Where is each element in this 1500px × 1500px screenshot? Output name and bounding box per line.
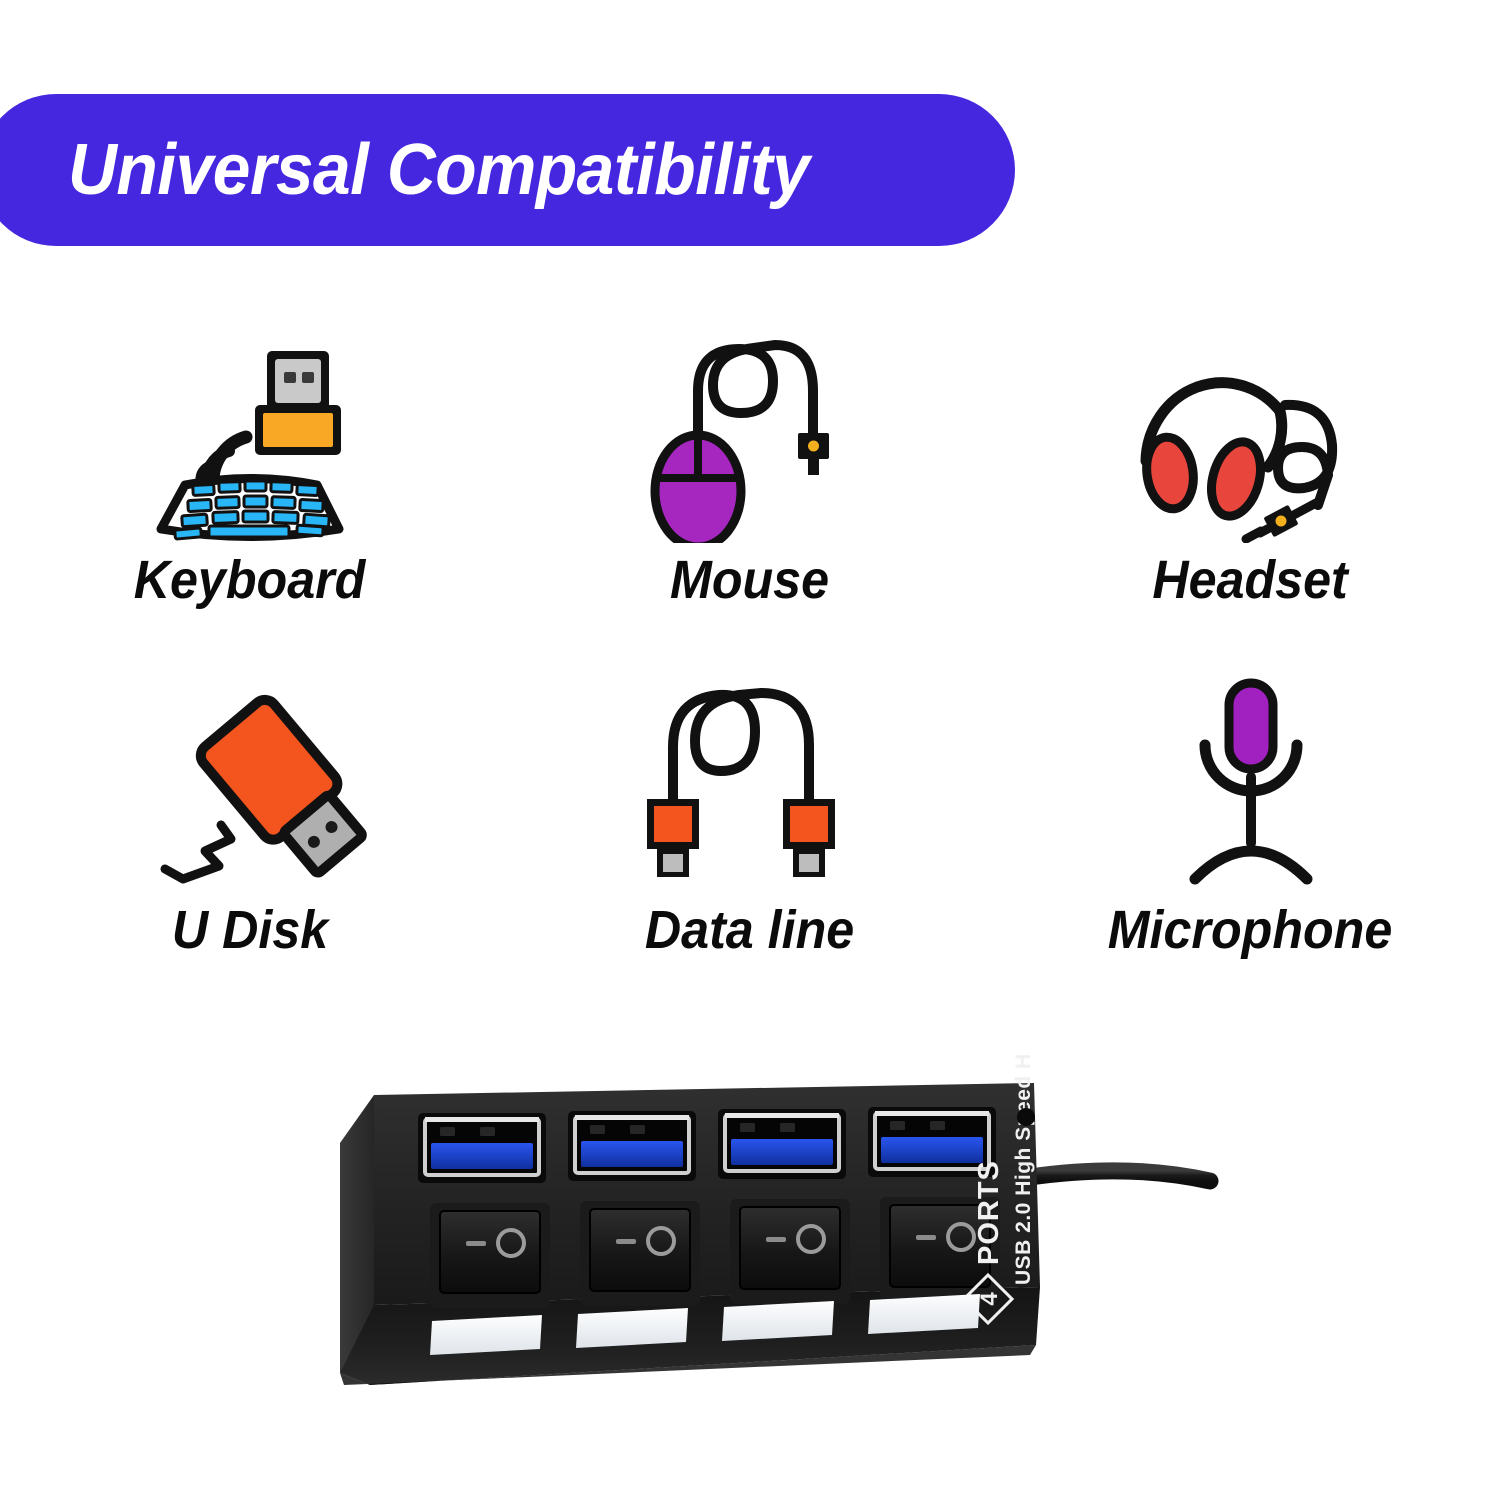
hub-status-led-pinhole [1017, 1108, 1035, 1126]
headset-icon [1128, 330, 1373, 545]
led-indicator [722, 1301, 834, 1341]
page-title: Universal Compatibility [68, 129, 809, 211]
power-switch[interactable] [430, 1203, 550, 1308]
compat-item-u-disk: U Disk [0, 670, 500, 1010]
led-indicator [430, 1315, 542, 1355]
hub-spec-label: USB 2.0 High Speed Hub [1012, 1055, 1035, 1285]
compat-label-keyboard: Keyboard [134, 549, 366, 611]
power-switch[interactable] [580, 1201, 700, 1306]
microphone-icon [1143, 670, 1358, 895]
usb-port [568, 1111, 696, 1181]
compat-label-microphone: Microphone [1108, 899, 1393, 961]
compat-label-data-line: Data line [645, 899, 854, 961]
compat-item-keyboard: Keyboard [0, 330, 500, 670]
compatibility-row: Keyboard Mouse [0, 330, 1500, 670]
led-indicator [576, 1308, 688, 1348]
header-banner: Universal Compatibility [0, 94, 1015, 246]
hub-ports-label: PORTS [973, 1160, 1005, 1265]
compat-item-data-line: Data line [500, 670, 1000, 1010]
compat-label-headset: Headset [1152, 549, 1347, 611]
compat-item-headset: Headset [1000, 330, 1500, 670]
usb-port [418, 1113, 546, 1183]
usb-data-cable-icon [633, 670, 868, 895]
wireless-keyboard-icon [125, 330, 375, 545]
usb-flash-drive-icon [125, 670, 375, 895]
compat-item-microphone: Microphone [1000, 670, 1500, 1010]
usb-hub-photo: PORTS 4 USB 2.0 High Speed Hub [330, 1055, 1250, 1455]
compat-label-u-disk: U Disk [172, 899, 328, 961]
usb-port [718, 1109, 846, 1179]
hub-cable [1030, 1171, 1210, 1181]
compat-item-mouse: Mouse [500, 330, 1000, 670]
usb-mouse-icon [635, 330, 865, 545]
hub-ports-count: 4 [976, 1292, 1003, 1306]
compat-label-mouse: Mouse [670, 549, 829, 611]
led-indicator [868, 1294, 980, 1334]
compatibility-row: U Disk Data li [0, 670, 1500, 1010]
power-switch[interactable] [730, 1199, 850, 1304]
compatibility-grid: Keyboard Mouse [0, 330, 1500, 1010]
